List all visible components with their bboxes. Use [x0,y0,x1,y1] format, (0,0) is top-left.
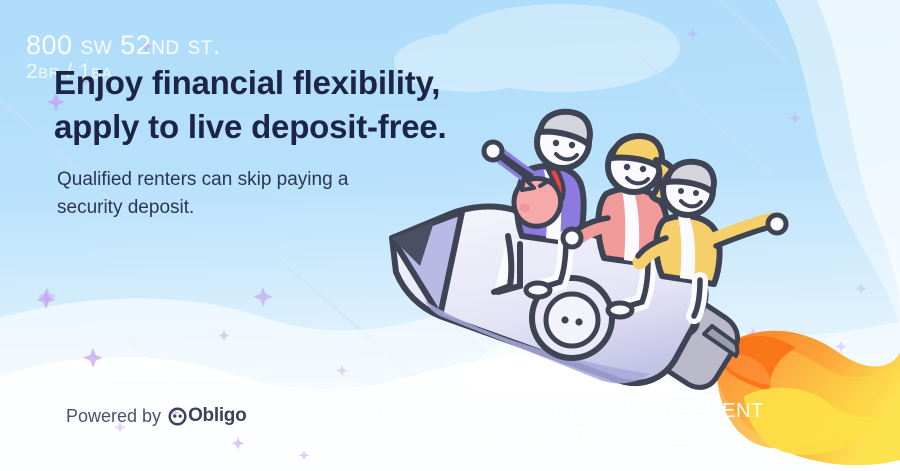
cloud-right [760,0,900,340]
obligo-logo: Obligo [168,405,246,427]
rocket-fin [596,261,697,381]
obligo-face-icon [168,407,187,426]
management-info: Oklahoma Red Door Management Call or tex… [364,391,764,449]
management-contact: Call or text 405.369.8905 [364,425,764,449]
headline-line-2: apply to live deposit-free. [54,105,447,149]
rocket-porthole [532,278,612,358]
headline-line-1: Enjoy financial flexibility, [54,61,447,105]
obligo-wordmark: Obligo [188,405,246,427]
property-address: 800 SW 52nd St. [26,30,221,60]
rider-pink [563,136,677,317]
obligo-face-icon [561,316,582,325]
property-ad-banner: 800 SW 52nd St. 2BR / 1BA Enjoy financia… [0,0,900,471]
rocket-engine [620,268,738,387]
subcopy: Qualified renters can skip paying a secu… [57,166,349,221]
subcopy-line-1: Qualified renters can skip paying a [57,166,349,194]
rocket-body [392,207,706,384]
powered-by-label: Powered by [66,406,161,427]
rider-purple [484,112,590,297]
rider-yellow [638,162,786,316]
powered-by-obligo: Powered by Obligo [66,405,246,427]
management-company-name: Oklahoma Red Door Management [364,391,764,425]
cloud-lumps-midright [470,333,736,392]
page-title: Enjoy financial flexibility, apply to li… [54,61,447,148]
subcopy-line-2: security deposit. [57,194,349,222]
piggy-bank-icon [514,178,561,226]
